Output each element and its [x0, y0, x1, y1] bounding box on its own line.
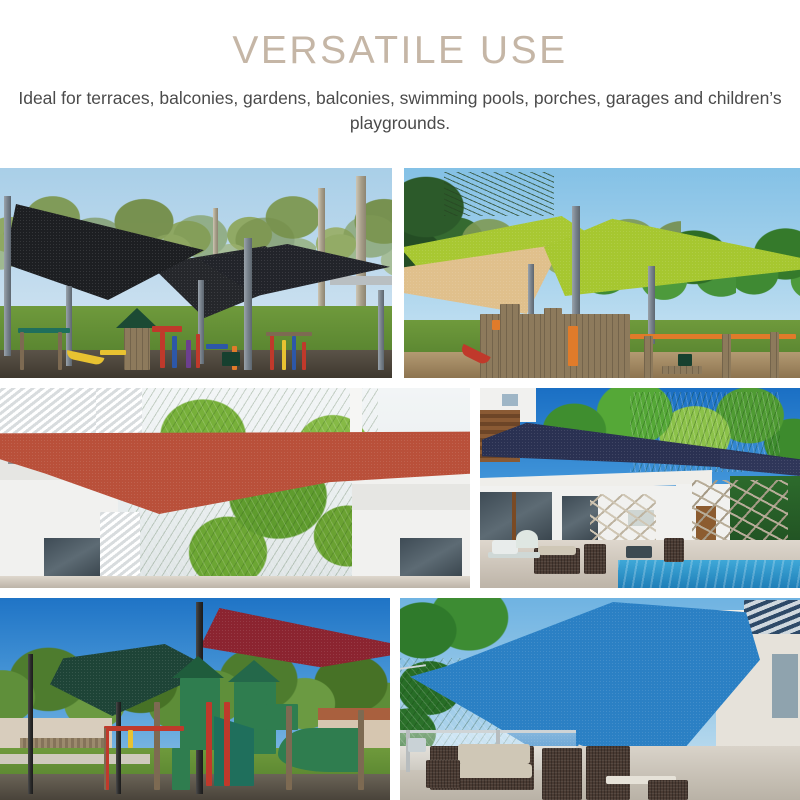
panel [266, 704, 298, 730]
swimming-pool [618, 560, 800, 588]
scene-timber-playground [404, 168, 800, 378]
louvred-shutters [0, 388, 96, 436]
park-bench [662, 366, 702, 374]
page-title: VERSATILE USE [0, 30, 800, 73]
planter [408, 738, 426, 752]
play-fort-tower [500, 304, 520, 378]
play-equipment [492, 320, 500, 330]
house-wall-right-shadow [352, 484, 470, 510]
panel-5-green-burgundy-sails-playground [0, 598, 390, 800]
play-tower-body [124, 328, 150, 370]
scene-park-playground [0, 168, 392, 378]
monkey-bars [104, 726, 184, 731]
play-equipment [152, 326, 182, 332]
dining-chair [586, 746, 630, 800]
play-equipment [58, 332, 62, 370]
panel-1-black-sails-playground [0, 168, 392, 378]
dining-chair [648, 780, 688, 800]
play-equipment [18, 328, 70, 333]
scene-modern-courtyard [0, 388, 470, 588]
panel-4-navy-sail-poolside [480, 388, 800, 588]
support-pole [572, 206, 580, 326]
support-pole [116, 702, 121, 794]
header-block: VERSATILE USE Ideal for terraces, balcon… [0, 0, 800, 168]
support-pole [28, 654, 33, 794]
panel-6-blue-sail-terrace [400, 598, 800, 800]
park-bin [678, 354, 692, 366]
support-pole [244, 238, 252, 370]
play-equipment [196, 334, 200, 368]
play-equipment [568, 326, 578, 366]
awning [744, 600, 800, 634]
support-pole [378, 290, 384, 370]
monkey-bar-post [722, 334, 731, 378]
house-window [772, 654, 798, 718]
play-equipment [222, 352, 240, 366]
play-equipment [302, 342, 306, 370]
collage-grid [0, 168, 800, 800]
play-equipment [266, 332, 312, 336]
monkey-bar-post [770, 332, 779, 378]
paving [0, 576, 470, 588]
play-equipment [172, 336, 177, 368]
support-pole [648, 266, 655, 344]
play-equipment [128, 730, 133, 748]
climbing-ladder [206, 702, 212, 786]
gravel-surface [0, 774, 390, 800]
side-table [626, 546, 652, 558]
sofa-seat-cushion [452, 764, 532, 778]
play-equipment [270, 334, 274, 370]
play-equipment [100, 350, 126, 355]
roof-tiles [318, 708, 390, 720]
play-equipment [20, 332, 24, 370]
support-pole [4, 196, 11, 356]
lounge-cushion [538, 546, 576, 555]
chair-cushion [492, 540, 518, 554]
climbing-ladder [224, 702, 230, 786]
support-post [286, 706, 292, 790]
tree-trunk [356, 176, 366, 326]
play-equipment [186, 340, 191, 368]
support-post [154, 702, 160, 790]
panel-2-lime-sand-sails-playground [404, 168, 800, 378]
play-equipment [206, 344, 228, 349]
page-subtitle: Ideal for terraces, balconies, gardens, … [0, 86, 800, 136]
potted-plant [516, 530, 538, 548]
play-equipment [282, 340, 286, 370]
play-equipment [172, 748, 190, 790]
monkey-bar-post [106, 728, 109, 790]
panel-3-terracotta-sail-courtyard [0, 388, 470, 588]
dining-chair [584, 544, 606, 574]
path [0, 754, 150, 764]
play-equipment [160, 332, 165, 368]
scene-pool-courtyard [480, 388, 800, 588]
scene-residential-terrace [400, 598, 800, 800]
sofa-back-cushion [458, 744, 530, 764]
play-equipment [292, 336, 296, 370]
scene-suburban-playground [0, 598, 390, 800]
support-post [358, 710, 364, 790]
dining-chair [664, 538, 684, 562]
play-fort-tower [544, 308, 562, 378]
monkey-bar-post [644, 336, 653, 378]
dining-chair [542, 748, 582, 800]
building-window [502, 394, 518, 406]
product-feature-collage: VERSATILE USE Ideal for terraces, balcon… [0, 0, 800, 800]
sofa-armrest [426, 760, 460, 788]
